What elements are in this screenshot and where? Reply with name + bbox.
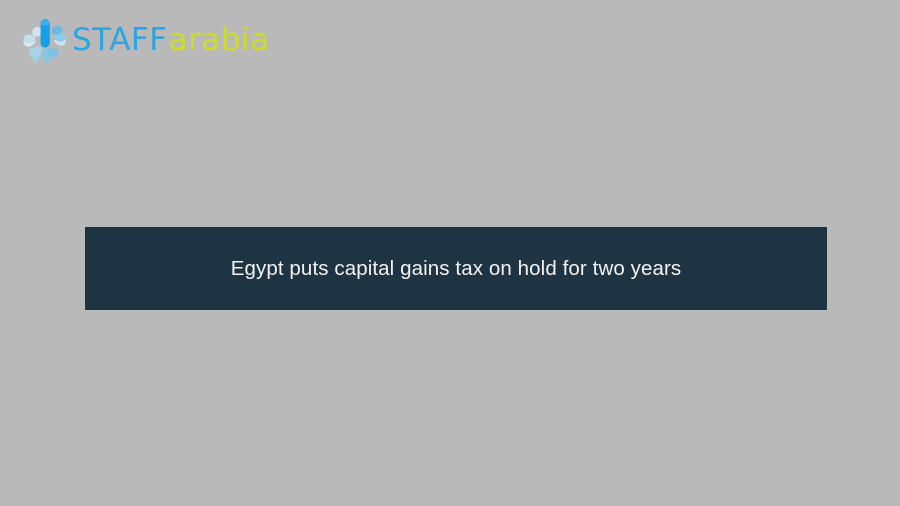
logo-word-staff: STAFF (72, 25, 168, 56)
headline-title: Egypt puts capital gains tax on hold for… (231, 257, 682, 281)
page-root: STAFF arabia Egypt puts capital gains ta… (0, 0, 900, 506)
starburst-flower-icon (22, 17, 68, 63)
logo-wordmark: STAFF arabia (72, 25, 270, 56)
logo-word-arabia: arabia (169, 25, 270, 56)
headline-banner: Egypt puts capital gains tax on hold for… (85, 227, 827, 310)
site-logo[interactable]: STAFF arabia (22, 16, 270, 64)
